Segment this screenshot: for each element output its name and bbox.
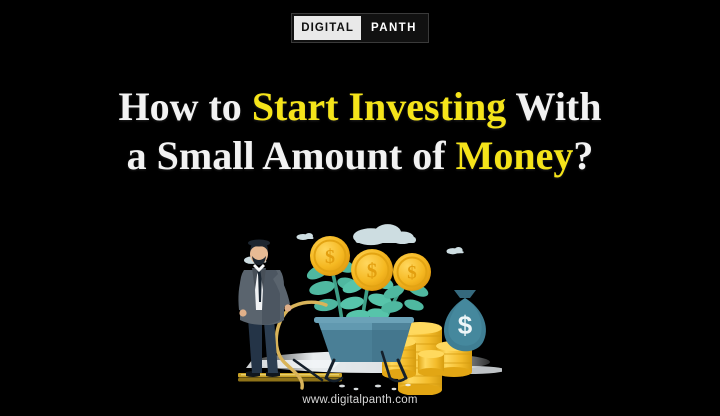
svg-text:$: $ xyxy=(407,263,417,284)
headline-seg-2a: a Small Amount of xyxy=(127,133,456,178)
headline-seg-1b: Start Investing xyxy=(252,84,506,129)
logo-word-panth: PANTH xyxy=(361,16,426,40)
digital-panth-logo[interactable]: DIGITAL PANTH xyxy=(291,13,429,43)
svg-text:$: $ xyxy=(367,259,378,283)
headline-line-2: a Small Amount of Money? xyxy=(0,131,720,180)
page-title: How to Start Investing With a Small Amou… xyxy=(0,82,720,180)
website-url[interactable]: www.digitalpanth.com xyxy=(0,394,720,406)
cloud-icon xyxy=(244,224,464,264)
svg-text:$: $ xyxy=(325,246,335,268)
headline-seg-1a: How to xyxy=(118,84,251,129)
headline-seg-2b: Money xyxy=(456,133,574,178)
headline-line-1: How to Start Investing With xyxy=(0,82,720,131)
poster-canvas: DIGITAL PANTH How to Start Investing Wit… xyxy=(0,0,720,416)
headline-seg-2c: ? xyxy=(573,133,593,178)
money-bag-icon: $ xyxy=(444,290,486,351)
headline-seg-1c: With xyxy=(506,84,601,129)
investing-growth-illustration: $ $ $ xyxy=(222,210,502,395)
logo-word-digital: DIGITAL xyxy=(294,16,361,40)
logo-container: DIGITAL PANTH xyxy=(0,13,720,43)
svg-text:$: $ xyxy=(458,310,473,340)
